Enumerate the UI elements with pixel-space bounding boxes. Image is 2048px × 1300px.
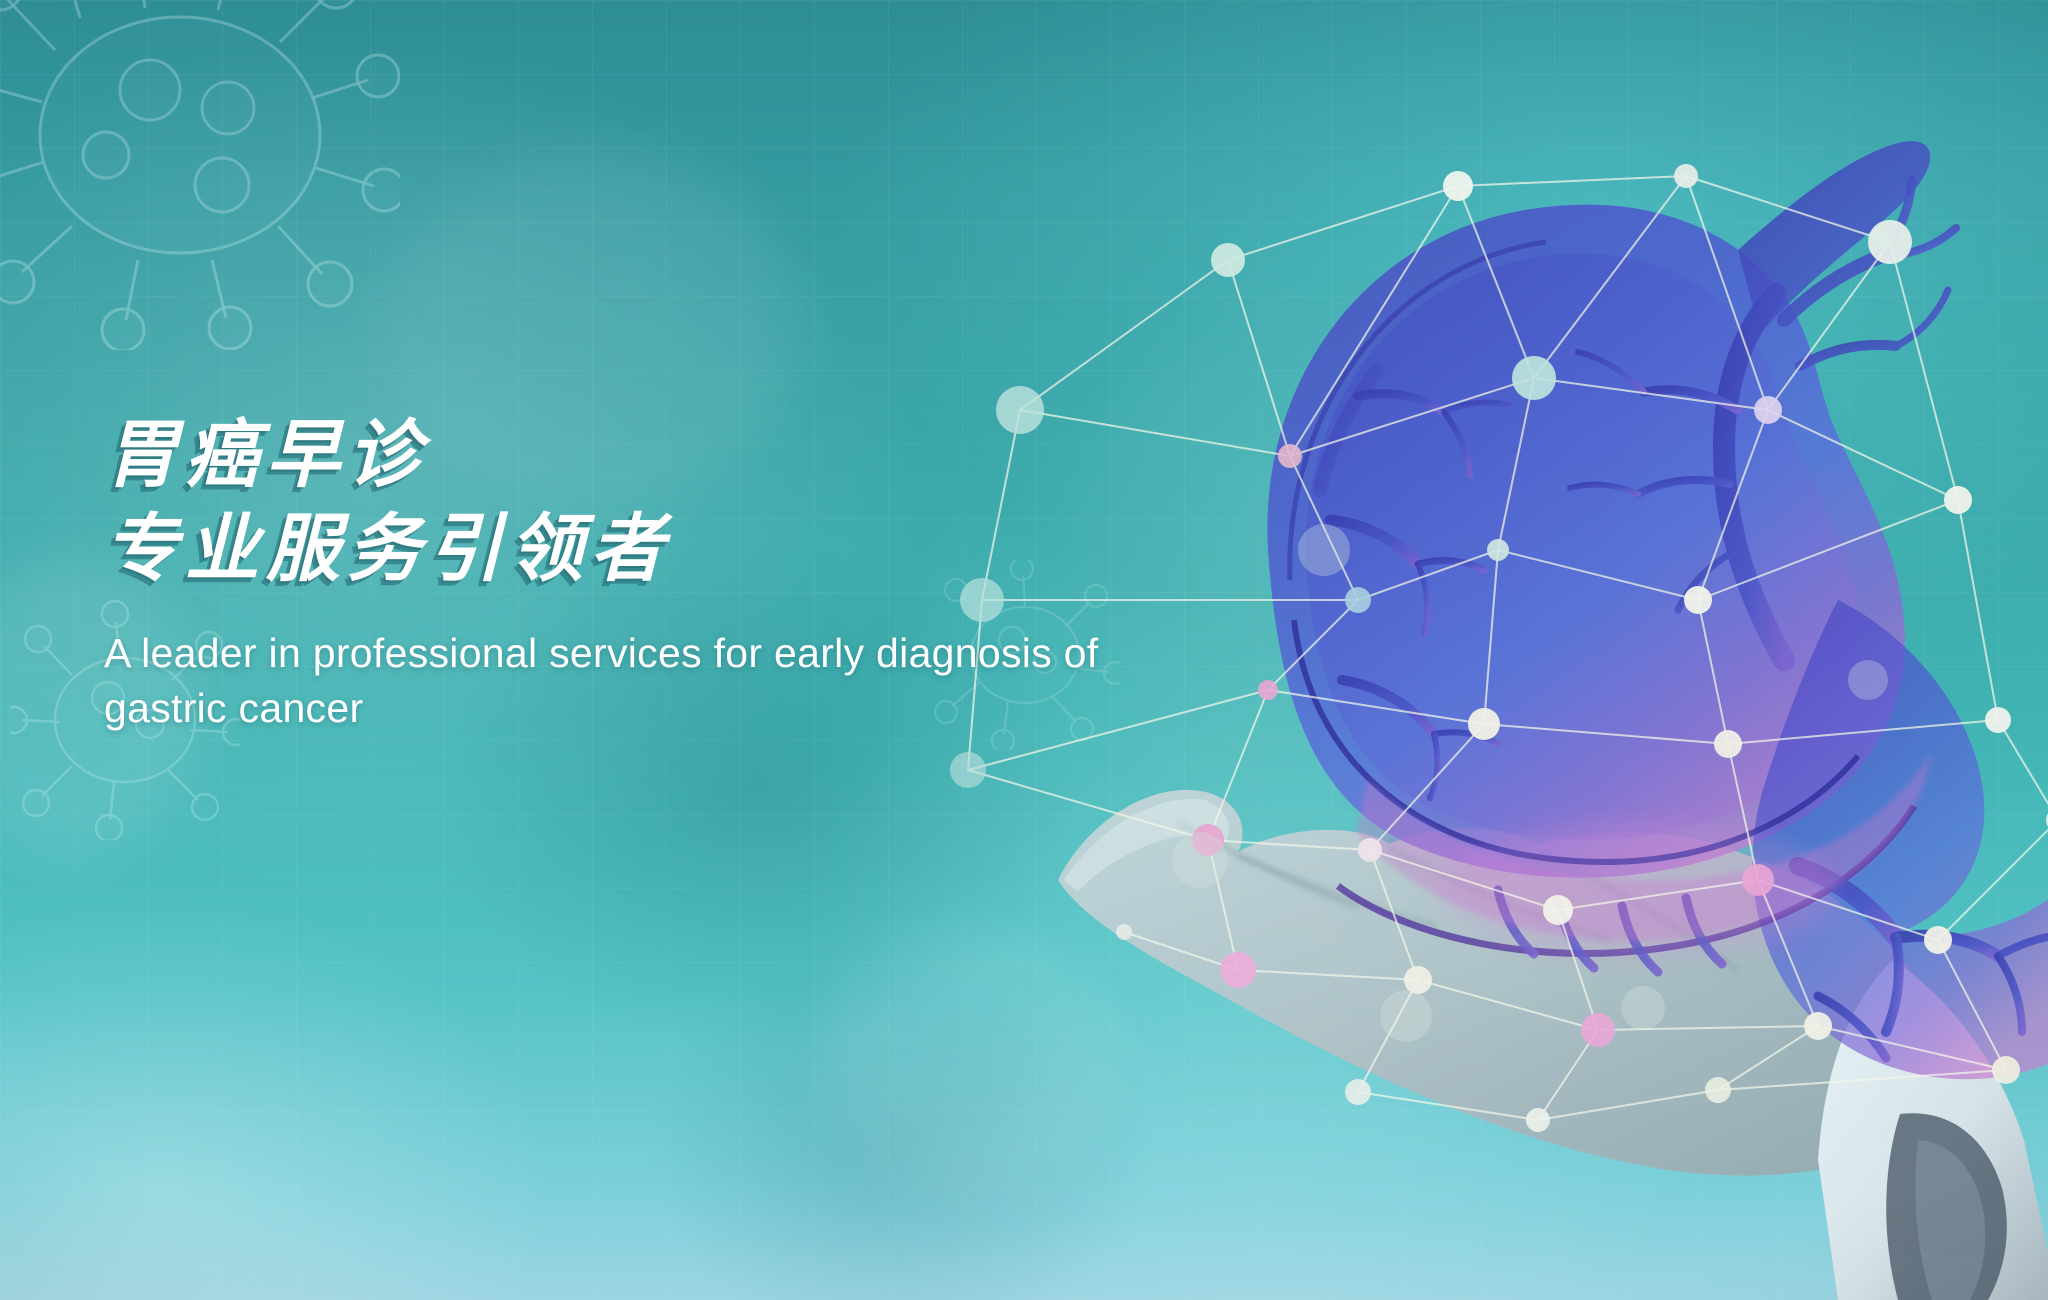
- headline-block: 胃癌早诊 专业服务引领者 A leader in professional se…: [104, 418, 1104, 737]
- headline-line-1: 胃癌早诊: [104, 418, 1104, 492]
- headline-line-2: 专业服务引领者: [104, 512, 1104, 586]
- subheadline: A leader in professional services for ea…: [104, 626, 1104, 737]
- banner-stage: 胃癌早诊 专业服务引领者 A leader in professional se…: [0, 0, 2048, 1300]
